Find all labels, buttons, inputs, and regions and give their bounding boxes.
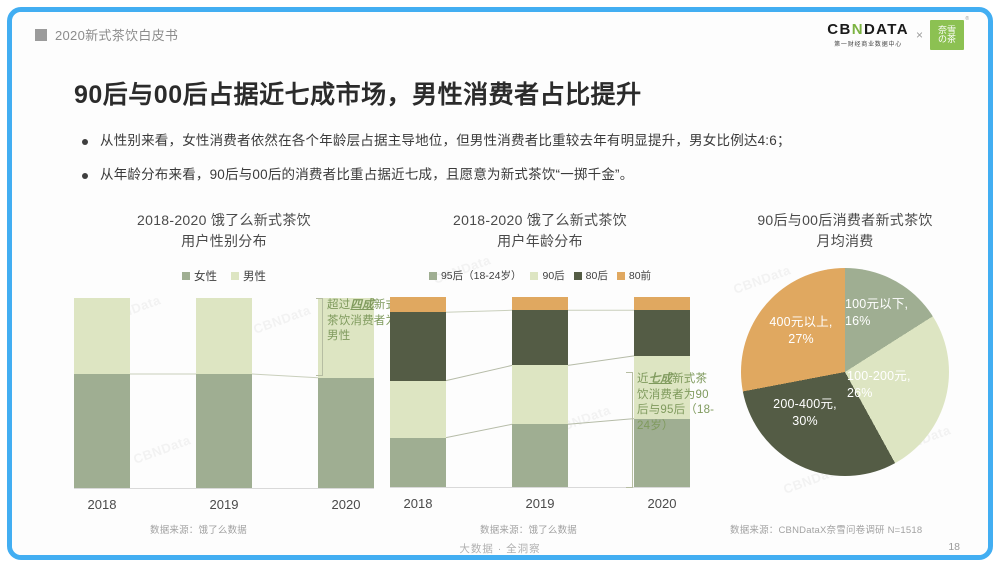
legend-swatch-icon bbox=[182, 272, 190, 280]
pie-slice-value: 27% bbox=[788, 332, 814, 346]
chart-legend: 95后（18-24岁） 90后 80后 80前 bbox=[390, 268, 690, 283]
chart-title: 2018-2020 饿了么新式茶饮 用户年龄分布 bbox=[390, 210, 690, 252]
chart-title-line1: 2018-2020 饿了么新式茶饮 bbox=[390, 210, 690, 231]
chart-age-distribution: 2018-2020 饿了么新式茶饮 用户年龄分布 95后（18-24岁） 90后… bbox=[390, 210, 690, 511]
chart-title-line1: 2018-2020 饿了么新式茶饮 bbox=[74, 210, 374, 231]
legend-label: 80后 bbox=[586, 268, 608, 283]
times-symbol: × bbox=[916, 28, 923, 42]
bracket-icon bbox=[316, 298, 323, 376]
bar-segment bbox=[512, 365, 568, 424]
charts-row: 2018-2020 饿了么新式茶饮 用户性别分布 女性 男性 bbox=[12, 210, 988, 540]
naixue-logo: 奈雪 の茶 ® bbox=[930, 20, 964, 50]
legend-label: 95后（18-24岁） bbox=[441, 268, 522, 283]
legend-swatch-icon bbox=[530, 272, 538, 280]
chart-gender-distribution: 2018-2020 饿了么新式茶饮 用户性别分布 女性 男性 bbox=[74, 210, 374, 512]
slide-header: 2020新式茶饮白皮书 CBNDATA 第一财经商业数据中心 × 奈雪 の茶 ® bbox=[12, 12, 988, 57]
chart-title-line2: 用户性别分布 bbox=[74, 231, 374, 252]
bar-segment bbox=[74, 374, 130, 488]
bullet-list: 从性别来看，女性消费者依然在各个年龄层占据主导地位，但男性消费者比重较去年有明显… bbox=[82, 132, 962, 199]
bullet-text: 从年龄分布来看，90后与00后的消费者比重占据近七成，且愿意为新式茶饮“一掷千金… bbox=[100, 166, 633, 184]
x-tick-label: 2018 bbox=[390, 496, 446, 511]
bar-column bbox=[390, 297, 446, 487]
bar-segment bbox=[318, 378, 374, 488]
bar-segment bbox=[74, 298, 130, 374]
bar-segment bbox=[512, 310, 568, 365]
legend-swatch-icon bbox=[231, 272, 239, 280]
footer-tagline: 大数据 · 全洞察 bbox=[12, 541, 988, 556]
x-tick-label: 2019 bbox=[512, 496, 568, 511]
bar-segment bbox=[390, 381, 446, 438]
annotation-emphasis: 四成 bbox=[350, 299, 373, 311]
bar-segment bbox=[634, 297, 690, 310]
legend-item-male: 男性 bbox=[231, 268, 266, 284]
legend-swatch-icon bbox=[574, 272, 582, 280]
legend-swatch-icon bbox=[617, 272, 625, 280]
legend-item-post80: 80后 bbox=[574, 268, 608, 283]
cbndata-logo: CBNDATA 第一财经商业数据中心 bbox=[827, 22, 909, 49]
brand-logo-group: CBNDATA 第一财经商业数据中心 × 奈雪 の茶 ® bbox=[827, 20, 964, 50]
x-tick-label: 2020 bbox=[318, 497, 374, 512]
chart-title: 2018-2020 饿了么新式茶饮 用户性别分布 bbox=[74, 210, 374, 252]
cbndata-part1: CB bbox=[827, 21, 851, 38]
registered-mark-icon: ® bbox=[965, 17, 969, 22]
bar-segment bbox=[196, 298, 252, 374]
bracket-icon bbox=[626, 372, 633, 488]
pie-plot-area: 100元以下, 16% 100-200元, 26% 200-400元, 30% … bbox=[741, 268, 949, 476]
pie-slice-label-100to200: 100-200元, 26% bbox=[847, 368, 939, 402]
legend-label: 女性 bbox=[194, 268, 217, 284]
bullet-text: 从性别来看，女性消费者依然在各个年龄层占据主导地位，但男性消费者比重较去年有明显… bbox=[100, 132, 791, 150]
bar-column bbox=[196, 298, 252, 488]
bar-column bbox=[512, 297, 568, 487]
pie-slice-value: 30% bbox=[792, 414, 818, 428]
x-tick-label: 2020 bbox=[634, 496, 690, 511]
chart-title: 90后与00后消费者新式茶饮 月均消费 bbox=[700, 210, 990, 252]
annotation-emphasis: 七成 bbox=[649, 373, 672, 385]
cbndata-part-n: N bbox=[852, 21, 864, 38]
list-item: 从性别来看，女性消费者依然在各个年龄层占据主导地位，但男性消费者比重较去年有明显… bbox=[82, 132, 962, 150]
chart-source: 数据来源：饿了么数据 bbox=[480, 522, 577, 536]
bar-column bbox=[74, 298, 130, 488]
x-axis-labels: 2018 2019 2020 bbox=[390, 496, 690, 511]
document-label-group: 2020新式茶饮白皮书 bbox=[35, 25, 178, 44]
chart-title-line2: 月均消费 bbox=[700, 231, 990, 252]
pie-slice-name: 100-200元, bbox=[847, 369, 911, 383]
bar-segment bbox=[390, 297, 446, 312]
bar-segment bbox=[512, 424, 568, 487]
x-tick-label: 2019 bbox=[196, 497, 252, 512]
bar-segment bbox=[390, 312, 446, 380]
slide-inner: CBNData CBNData CBNData CBNData CBNData … bbox=[12, 12, 988, 555]
chart-monthly-spend-pie: 90后与00后消费者新式茶饮 月均消费 100元以下, 16% 100-200元… bbox=[700, 210, 990, 476]
legend-item-post95: 95后（18-24岁） bbox=[429, 268, 522, 283]
pie-slice-label-200to400: 200-400元, 30% bbox=[755, 396, 855, 430]
chart-legend: 女性 男性 bbox=[74, 268, 374, 284]
legend-item-pre80: 80前 bbox=[617, 268, 651, 283]
list-item: 从年龄分布来看，90后与00后的消费者比重占据近七成，且愿意为新式茶饮“一掷千金… bbox=[82, 166, 962, 184]
legend-item-female: 女性 bbox=[182, 268, 217, 284]
pie-slice-name: 200-400元, bbox=[773, 397, 837, 411]
annotation-prefix: 近 bbox=[637, 373, 649, 385]
x-axis-labels: 2018 2019 2020 bbox=[74, 497, 374, 512]
legend-swatch-icon bbox=[429, 272, 437, 280]
page-title: 90后与00后占据近七成市场，男性消费者占比提升 bbox=[74, 75, 642, 111]
cbndata-subtitle: 第一财经商业数据中心 bbox=[827, 39, 909, 48]
bar-segment bbox=[196, 374, 252, 488]
page-number: 18 bbox=[948, 541, 960, 553]
bar-segment bbox=[390, 438, 446, 487]
legend-label: 男性 bbox=[243, 268, 266, 284]
chart-title-line2: 用户年龄分布 bbox=[390, 231, 690, 252]
x-axis-line bbox=[74, 488, 374, 489]
bar-segment bbox=[512, 297, 568, 310]
chart-title-line1: 90后与00后消费者新式茶饮 bbox=[700, 210, 990, 231]
chart-source: 数据来源：饿了么数据 bbox=[150, 522, 247, 536]
chart-source: 数据来源：CBNDataX奈雪问卷调研 N=1518 bbox=[730, 522, 922, 536]
bar-segment bbox=[634, 310, 690, 356]
pie-slice-label-over400: 400元以上, 27% bbox=[753, 314, 849, 348]
slide-frame: CBNData CBNData CBNData CBNData CBNData … bbox=[7, 7, 993, 560]
square-bullet-icon bbox=[35, 29, 47, 41]
pie-slice-name: 100元以下, bbox=[845, 297, 908, 311]
annotation-prefix: 超过 bbox=[327, 299, 350, 311]
pie-slice-name: 400元以上, bbox=[769, 315, 832, 329]
legend-item-post90: 90后 bbox=[530, 268, 564, 283]
naixue-line2: の茶 bbox=[938, 35, 956, 44]
cbndata-wordmark: CBNDATA bbox=[827, 22, 909, 38]
bullet-dot-icon bbox=[82, 173, 88, 179]
legend-label: 90后 bbox=[542, 268, 564, 283]
legend-label: 80前 bbox=[629, 268, 651, 283]
cbndata-part2: DATA bbox=[864, 21, 909, 38]
x-tick-label: 2018 bbox=[74, 497, 130, 512]
document-label: 2020新式茶饮白皮书 bbox=[55, 25, 178, 44]
pie-slice-label-under100: 100元以下, 16% bbox=[845, 296, 925, 330]
bullet-dot-icon bbox=[82, 139, 88, 145]
